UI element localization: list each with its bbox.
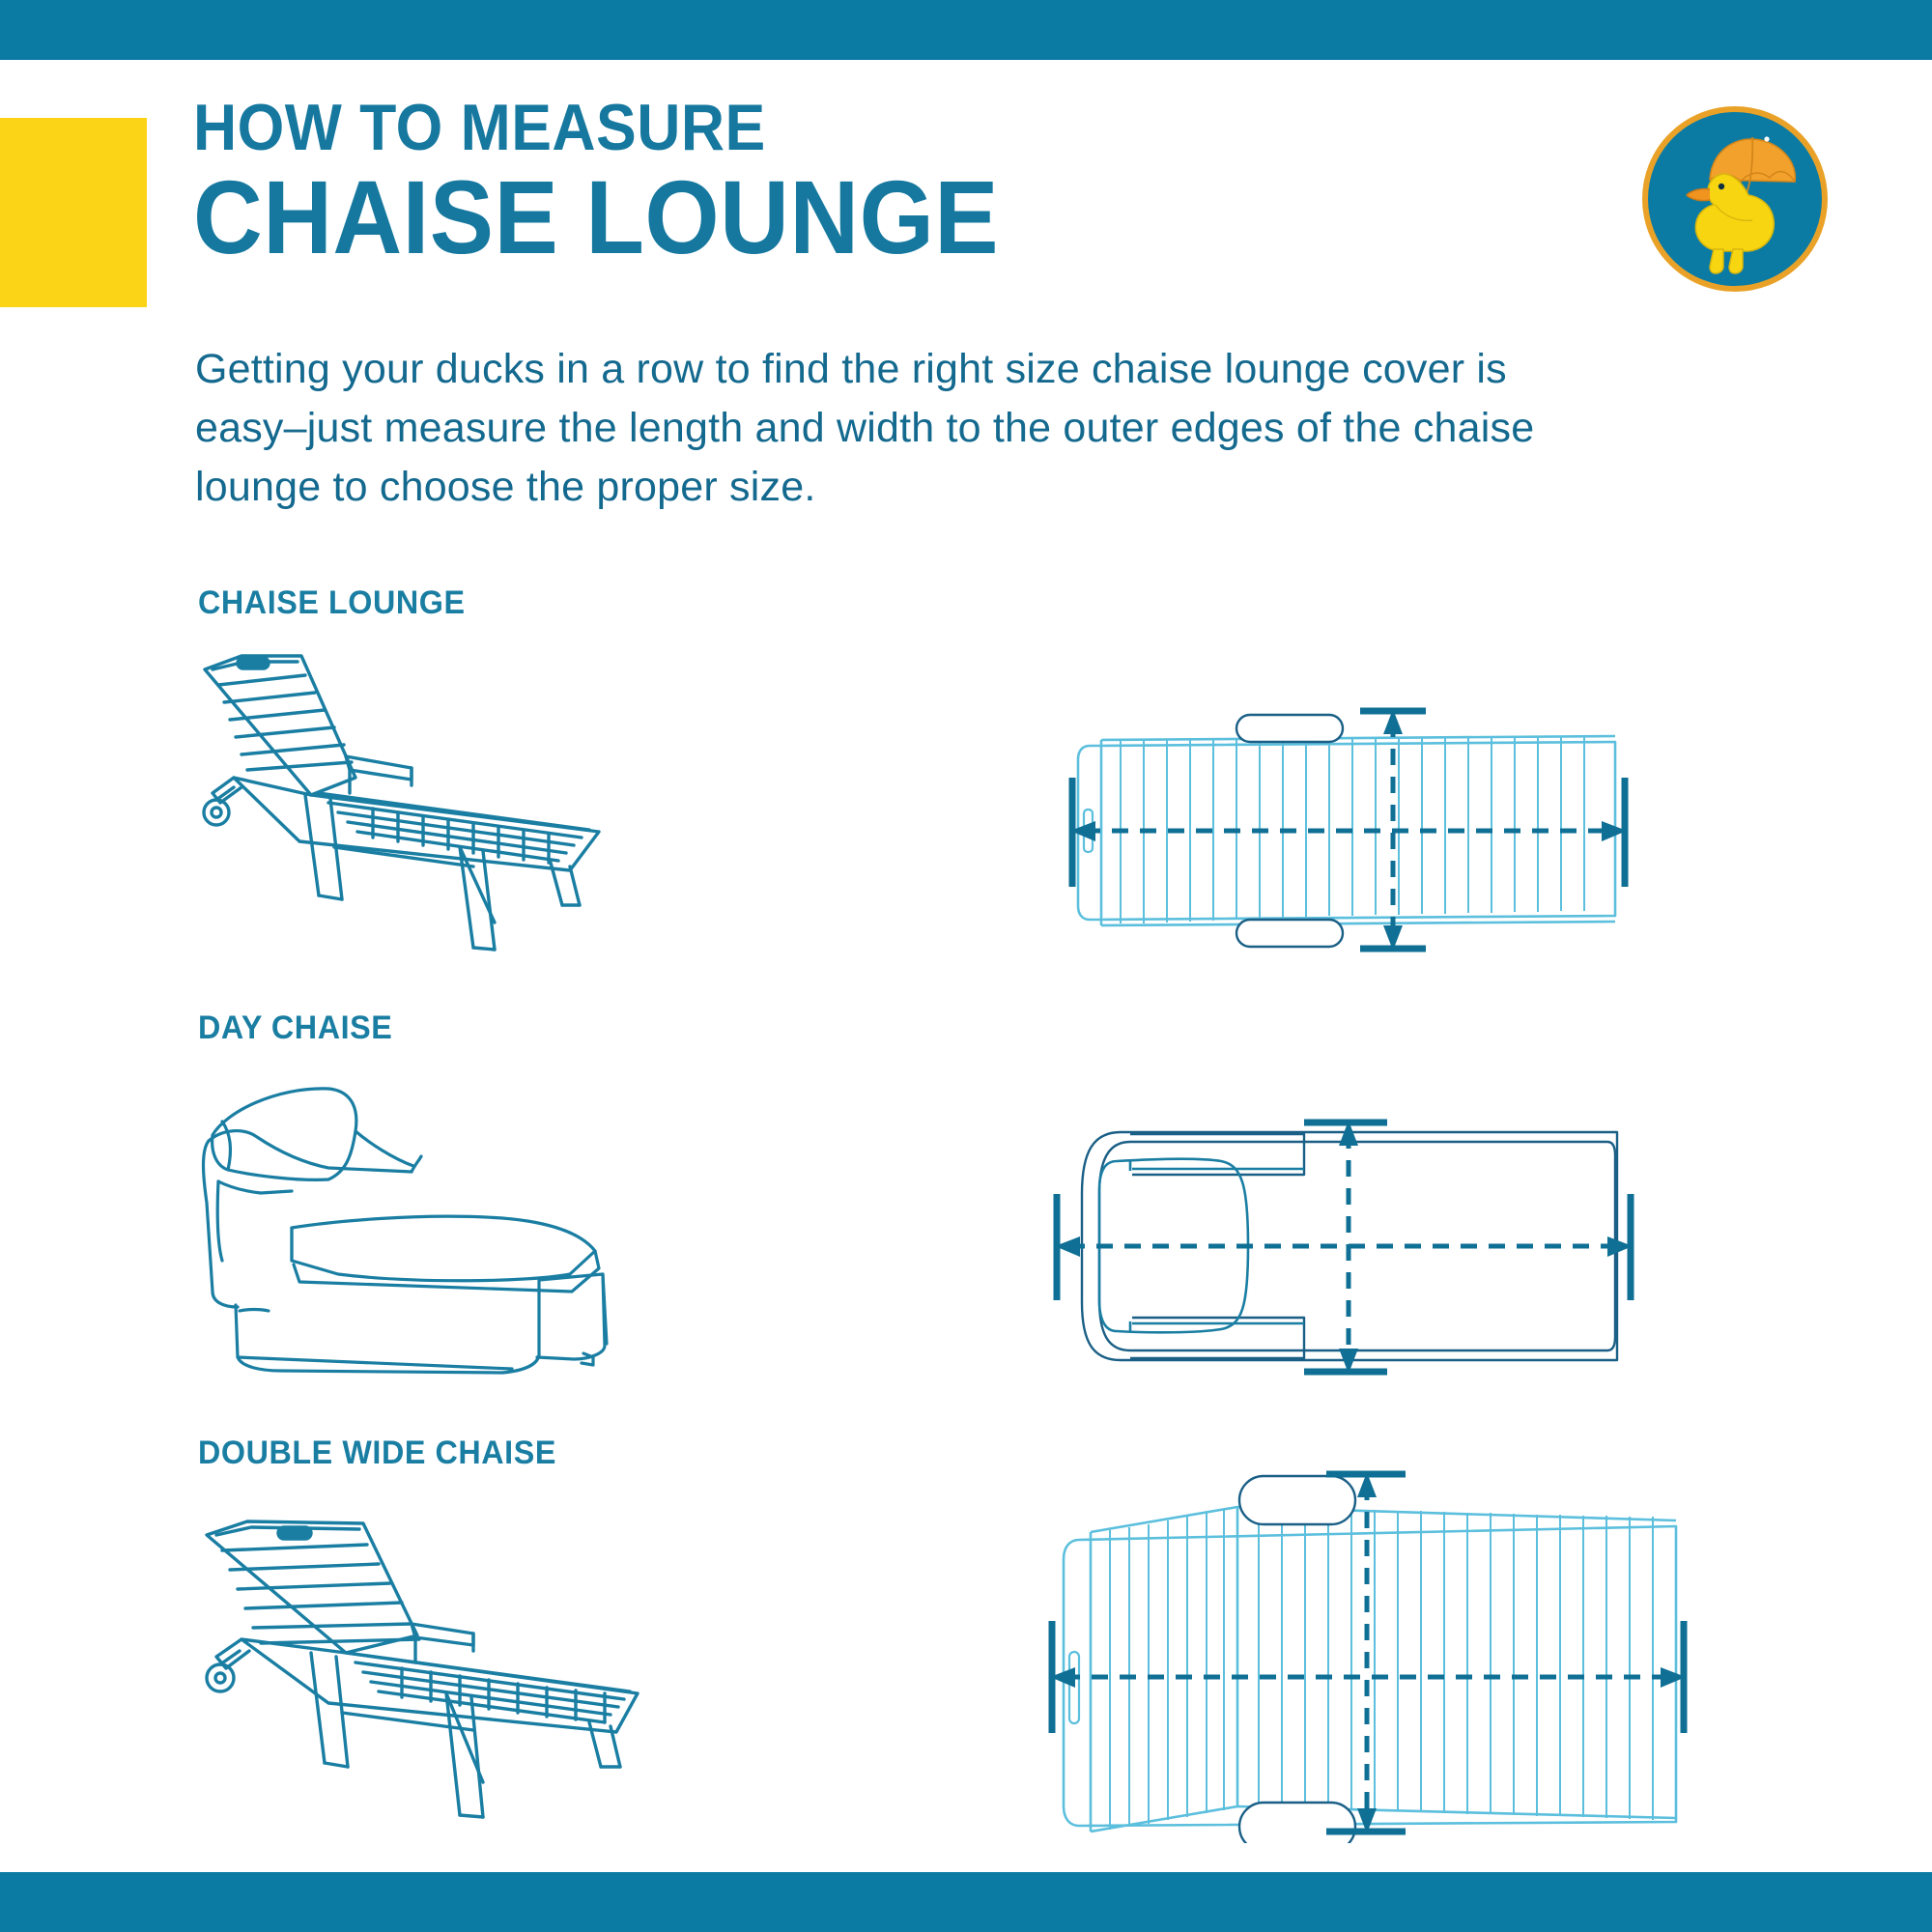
length-measure [1070, 778, 1627, 887]
top-color-band [0, 0, 1932, 60]
chaise-lounge-topview-diagram [1024, 667, 1642, 956]
bottom-color-band [0, 1872, 1932, 1932]
width-measure [1326, 1472, 1406, 1833]
day-chaise-topview-diagram [1024, 1101, 1642, 1391]
day-chaise-perspective-illustration [184, 1067, 628, 1377]
intro-paragraph: Getting your ducks in a row to find the … [195, 340, 1586, 517]
page-title-line1: HOW TO MEASURE [193, 97, 1482, 159]
double-wide-chaise-topview-diagram [1019, 1447, 1695, 1843]
width-measure [1304, 1121, 1387, 1374]
length-measure [1055, 1194, 1633, 1300]
duck-with-umbrella-logo [1640, 104, 1830, 294]
yellow-accent-block [0, 118, 147, 307]
section-label-chaise-lounge: CHAISE LOUNGE [198, 584, 466, 622]
section-label-double-wide-chaise: DOUBLE WIDE CHAISE [198, 1435, 556, 1472]
section-label-day-chaise: DAY CHAISE [198, 1009, 392, 1047]
double-wide-chaise-perspective-illustration [184, 1492, 667, 1821]
header: HOW TO MEASURE CHAISE LOUNGE [193, 97, 1594, 270]
infographic-page: HOW TO MEASURE CHAISE LOUNGE Getting you… [0, 0, 1932, 1932]
chaise-lounge-perspective-illustration [184, 642, 628, 952]
page-title-line2: CHAISE LOUNGE [193, 165, 1482, 270]
